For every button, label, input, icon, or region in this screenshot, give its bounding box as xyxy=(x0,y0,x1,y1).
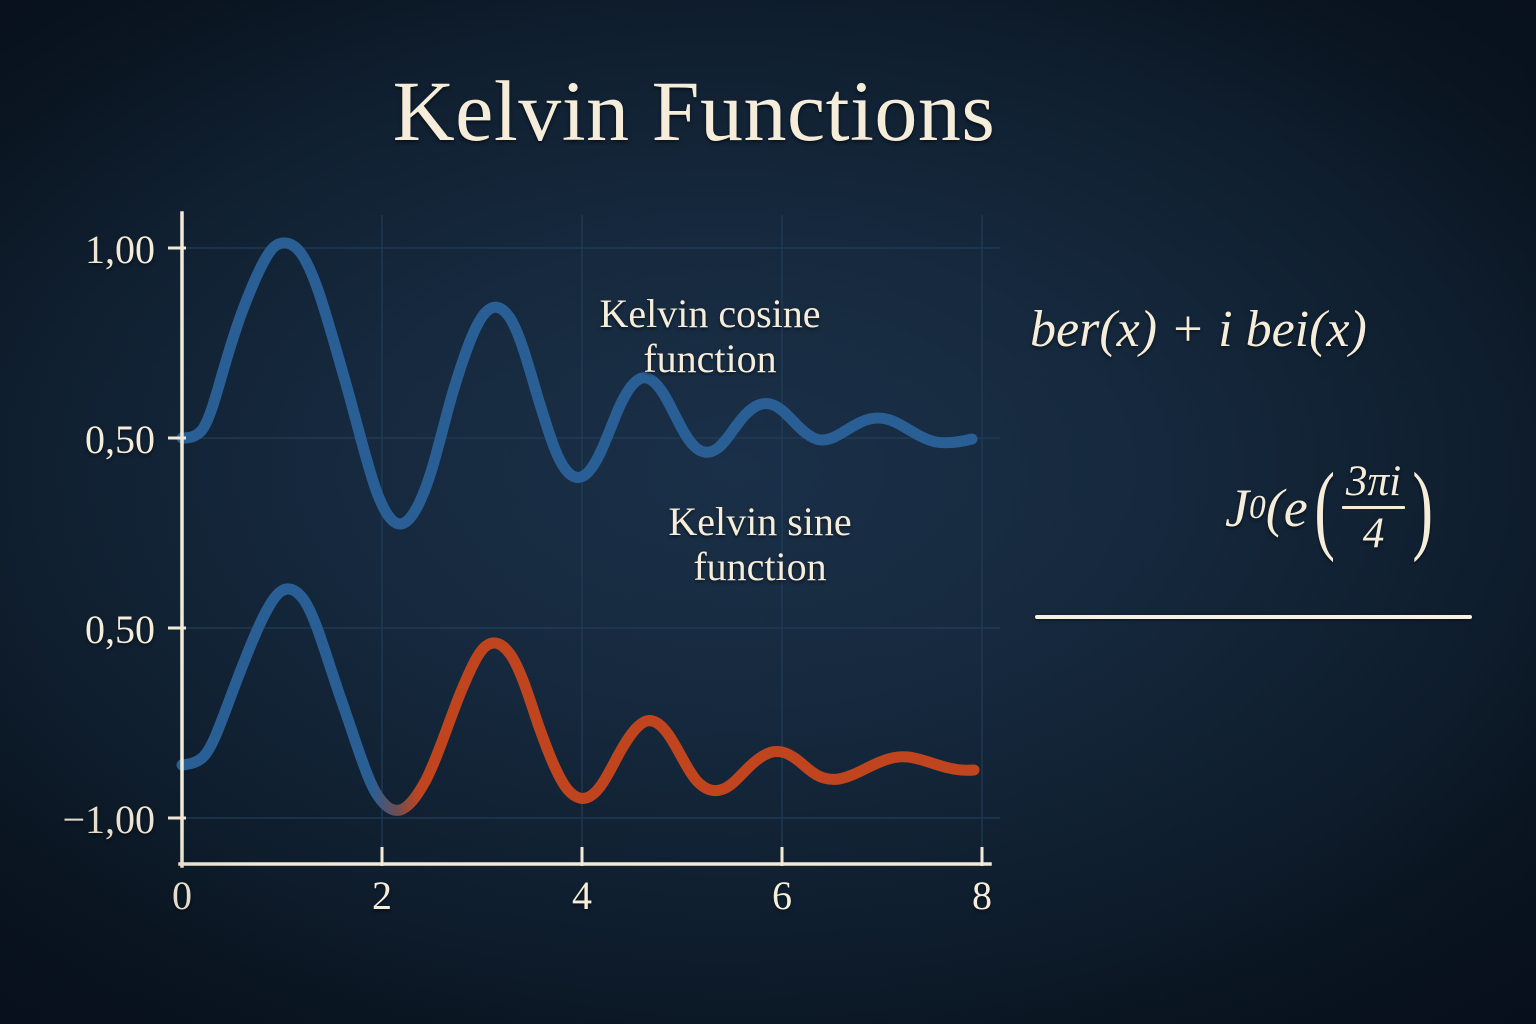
formula-bessel-j: J xyxy=(1225,477,1249,539)
annotation-cosine-line2: function xyxy=(520,337,900,382)
x-tick-label-0: 0 xyxy=(162,872,202,919)
formula-bessel-denominator: 4 xyxy=(1359,511,1389,557)
y-tick-label-1: 1,00 xyxy=(0,226,155,273)
annotation-kelvin-cosine: Kelvin cosine function xyxy=(520,292,900,382)
kelvin-sine-curve xyxy=(182,589,974,810)
formula-bessel-e: e xyxy=(1284,477,1308,539)
formula-bessel-fraction: 3πi4 xyxy=(1342,460,1405,557)
annotation-cosine-line1: Kelvin cosine xyxy=(520,292,900,337)
x-tick-label-8: 8 xyxy=(962,872,1002,919)
formula-bessel-subscript: 0 xyxy=(1249,489,1266,527)
formula-divider-rule xyxy=(1035,615,1472,619)
formula-bessel-paren-close: ) xyxy=(1412,472,1433,544)
annotation-sine-line1: Kelvin sine xyxy=(570,500,950,545)
formula-bessel-representation: J0(e(3πi4) xyxy=(1225,460,1439,557)
x-tick-label-4: 4 xyxy=(562,872,602,919)
kelvin-cosine-curve xyxy=(182,243,972,524)
formula-bessel-open-paren: ( xyxy=(1266,477,1284,539)
formula-bessel-paren-open: ( xyxy=(1314,472,1335,544)
x-tick-label-2: 2 xyxy=(362,872,402,919)
x-tick-label-6: 6 xyxy=(762,872,802,919)
formula-bessel-numerator: 3πi xyxy=(1342,460,1405,504)
annotation-kelvin-sine: Kelvin sine function xyxy=(570,500,950,590)
y-tick-label-4: −1,00 xyxy=(0,796,155,843)
y-tick-label-2: 0,50 xyxy=(0,416,155,463)
fraction-bar-icon xyxy=(1342,506,1405,509)
y-tick-label-3: 0,50 xyxy=(0,606,155,653)
slide-canvas: Kelvin Functions xyxy=(0,0,1536,1024)
formula-complex-form: ber(x) + i bei(x) xyxy=(1030,300,1367,359)
annotation-sine-line2: function xyxy=(570,545,950,590)
